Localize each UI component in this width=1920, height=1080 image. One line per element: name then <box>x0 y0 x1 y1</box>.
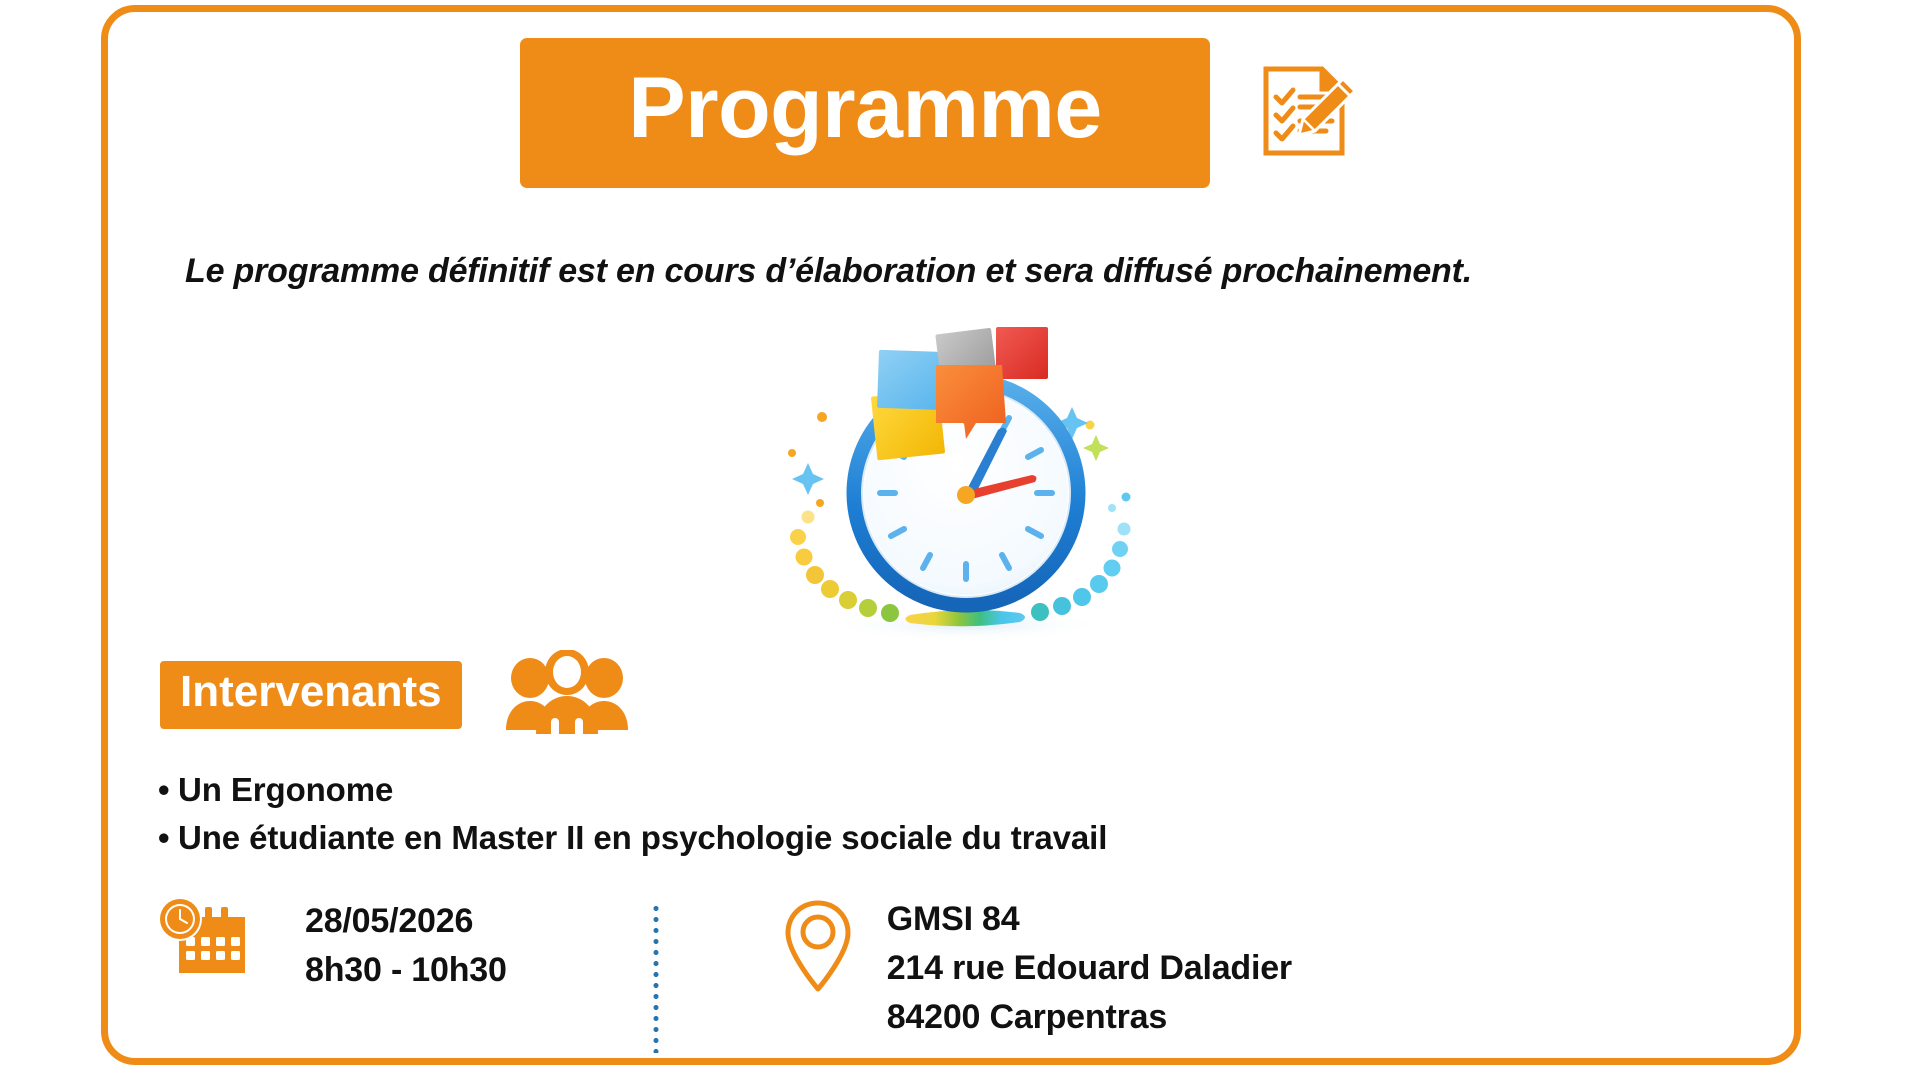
bullet-char: • <box>158 814 178 862</box>
title-row: Programme <box>520 38 1358 188</box>
speakers-badge: Intervenants <box>160 661 462 729</box>
bullet-char: • <box>158 766 178 814</box>
speakers-badge-label: Intervenants <box>180 670 442 714</box>
page-title-badge: Programme <box>520 38 1210 188</box>
event-time: 8h30 - 10h30 <box>305 946 507 995</box>
speakers-list: •Un Ergonome •Une étudiante en Master II… <box>158 766 1107 861</box>
list-item: •Une étudiante en Master II en psycholog… <box>158 814 1107 862</box>
date-lines: 28/05/2026 8h30 - 10h30 <box>305 895 507 995</box>
event-date: 28/05/2026 <box>305 897 507 946</box>
list-item-label: Un Ergonome <box>178 771 393 808</box>
subtitle-text: Le programme définitif est en cours d’él… <box>185 252 1472 291</box>
date-block: 28/05/2026 8h30 - 10h30 <box>155 895 507 995</box>
calendar-clock-icon <box>155 895 251 988</box>
dotted-divider <box>653 903 659 1053</box>
slide-canvas: Programme Le programme définit <box>0 0 1920 1080</box>
speakers-header-row: Intervenants <box>160 650 630 739</box>
footer-info: 28/05/2026 8h30 - 10h30 GMSI 84 214 rue … <box>155 895 1292 1053</box>
venue-lines: GMSI 84 214 rue Edouard Daladier 84200 C… <box>887 895 1292 1042</box>
list-item: •Un Ergonome <box>158 766 1107 814</box>
list-item-label: Une étudiante en Master II en psychologi… <box>178 819 1107 856</box>
clock-with-sticky-notes-illustration <box>760 325 1180 665</box>
page-title: Programme <box>628 65 1101 151</box>
venue-name: GMSI 84 <box>887 895 1292 944</box>
venue-city: 84200 Carpentras <box>887 993 1292 1042</box>
venue-block: GMSI 84 214 rue Edouard Daladier 84200 C… <box>775 895 1292 1042</box>
location-pin-icon <box>775 895 861 1004</box>
venue-street: 214 rue Edouard Daladier <box>887 944 1292 993</box>
checklist-pencil-icon <box>1250 57 1358 170</box>
people-group-icon <box>504 650 630 739</box>
